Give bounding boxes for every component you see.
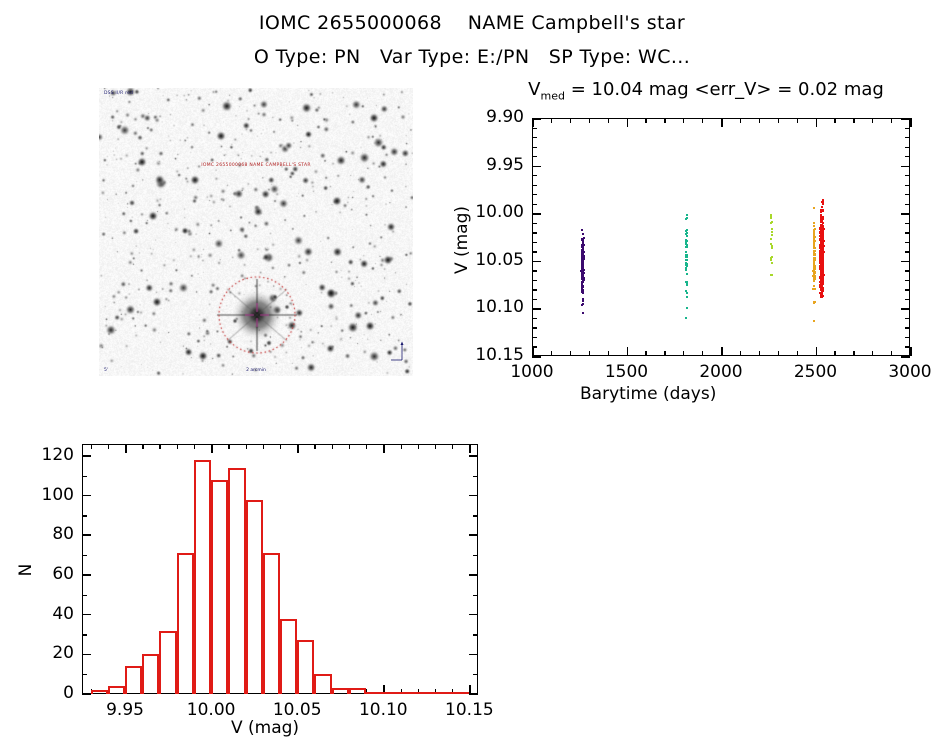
- axis-tick: [280, 444, 281, 449]
- data-point: [581, 272, 583, 274]
- axis-tick: [473, 634, 478, 635]
- object-types: O Type: PN Var Type: E:/PN SP Type: WC..…: [0, 42, 944, 72]
- data-point: [813, 260, 815, 262]
- data-point: [582, 233, 584, 235]
- data-point: [820, 224, 822, 226]
- axis-tick-label: 10.10: [343, 700, 423, 720]
- data-point: [685, 317, 687, 319]
- axis-tick-label: 60: [4, 564, 74, 584]
- data-point: [820, 294, 822, 296]
- data-point: [686, 264, 688, 266]
- axis-tick-label: 10.10: [454, 297, 524, 317]
- histogram-bar: [125, 666, 142, 694]
- axis-tick-label: 9.95: [85, 700, 165, 720]
- axis-tick: [853, 118, 854, 123]
- data-point: [582, 279, 584, 281]
- axis-tick: [570, 351, 571, 356]
- axis-tick: [905, 299, 910, 300]
- data-point: [686, 256, 688, 258]
- axis-tick: [108, 444, 109, 449]
- data-point: [822, 280, 824, 282]
- axis-tick: [532, 308, 537, 309]
- data-point: [685, 268, 687, 270]
- data-point: [814, 228, 816, 230]
- axis-tick: [905, 204, 910, 205]
- data-point: [582, 312, 584, 314]
- data-point: [813, 241, 815, 243]
- axis-tick: [740, 351, 741, 356]
- data-point: [819, 232, 821, 234]
- scatter-xaxis-label: Barytime (days): [580, 384, 716, 404]
- data-point: [686, 273, 688, 275]
- axis-tick: [82, 476, 87, 477]
- axis-tick: [469, 693, 478, 695]
- axis-tick-label: 10.15: [429, 700, 509, 720]
- axis-tick: [905, 318, 910, 319]
- axis-tick: [82, 515, 87, 516]
- data-point: [819, 284, 821, 286]
- histogram-bar: [263, 553, 280, 694]
- histogram-bar: [211, 480, 228, 694]
- dss-corner-label: 5': [104, 368, 108, 373]
- data-point: [813, 244, 815, 246]
- axis-tick: [683, 351, 684, 356]
- axis-tick: [645, 351, 646, 356]
- data-point: [813, 320, 815, 322]
- axis-tick: [905, 185, 910, 186]
- axis-tick: [608, 351, 609, 356]
- axis-tick-label: 1500: [587, 362, 667, 382]
- axis-tick: [473, 674, 478, 675]
- data-point: [820, 256, 822, 258]
- data-point: [581, 282, 583, 284]
- axis-tick: [905, 356, 910, 357]
- data-point: [686, 259, 688, 261]
- data-point: [822, 203, 824, 205]
- axis-tick: [532, 347, 534, 356]
- data-point: [822, 209, 824, 211]
- data-point: [822, 268, 824, 270]
- axis-tick: [759, 118, 760, 123]
- axis-tick: [905, 194, 910, 195]
- data-point: [582, 300, 584, 302]
- axis-tick: [91, 444, 92, 449]
- axis-tick-label: 9.90: [454, 107, 524, 127]
- data-point: [821, 260, 823, 262]
- data-point: [582, 285, 584, 287]
- data-point: [686, 232, 688, 234]
- axis-tick-label: 10.15: [454, 345, 524, 365]
- data-point: [813, 302, 815, 304]
- axis-tick: [721, 347, 723, 356]
- axis-tick: [532, 118, 541, 120]
- data-point: [581, 259, 583, 261]
- data-point: [770, 258, 772, 260]
- data-point: [771, 245, 773, 247]
- data-point: [771, 228, 773, 230]
- axis-tick: [910, 347, 912, 356]
- axis-tick: [532, 356, 537, 357]
- axis-tick: [142, 444, 143, 449]
- axis-tick: [797, 351, 798, 356]
- axis-tick: [905, 327, 910, 328]
- axis-tick: [532, 318, 537, 319]
- hist-xaxis-label: V (mag): [231, 718, 299, 738]
- axis-tick: [532, 242, 537, 243]
- data-point: [771, 234, 773, 236]
- axis-tick: [905, 289, 910, 290]
- axis-tick: [532, 128, 537, 129]
- axis-tick-label: 120: [4, 445, 74, 465]
- data-point: [685, 290, 687, 292]
- data-point: [581, 268, 583, 270]
- data-point: [814, 254, 816, 256]
- dss-survey-label: DSS II/R red: [104, 91, 133, 96]
- data-point: [771, 274, 773, 276]
- axis-tick: [797, 118, 798, 123]
- axis-tick: [532, 194, 537, 195]
- histogram-bar: [383, 692, 400, 694]
- axis-tick: [905, 147, 910, 148]
- data-point: [813, 257, 815, 259]
- axis-tick: [314, 444, 315, 449]
- data-point: [581, 239, 583, 241]
- axis-tick: [551, 118, 552, 123]
- data-point: [821, 228, 823, 230]
- axis-tick: [82, 495, 91, 497]
- histogram-bar: [142, 654, 159, 694]
- data-point: [813, 265, 815, 267]
- data-point: [822, 242, 824, 244]
- axis-tick: [627, 347, 629, 356]
- histogram-bar: [349, 688, 366, 694]
- data-point: [771, 231, 773, 233]
- axis-tick: [905, 251, 910, 252]
- data-point: [813, 285, 815, 287]
- axis-tick: [82, 634, 87, 635]
- axis-tick: [82, 574, 91, 576]
- data-point: [814, 247, 816, 249]
- data-point: [822, 217, 824, 219]
- data-point: [822, 295, 824, 297]
- axis-tick: [532, 232, 537, 233]
- vmed-values: = 10.04 mag <err_V> = 0.02 mag: [565, 79, 884, 100]
- axis-tick: [532, 175, 537, 176]
- data-point: [813, 225, 815, 227]
- axis-tick: [589, 351, 590, 356]
- axis-tick: [551, 351, 552, 356]
- axis-tick: [905, 337, 910, 338]
- data-point: [582, 303, 584, 305]
- axis-tick: [82, 595, 87, 596]
- data-point: [686, 307, 688, 309]
- axis-tick: [532, 251, 537, 252]
- histogram-bar: [332, 688, 349, 694]
- axis-tick: [435, 444, 436, 449]
- axis-tick: [82, 455, 91, 457]
- axis-tick: [901, 118, 910, 120]
- data-point: [583, 237, 585, 239]
- axis-tick: [905, 261, 910, 262]
- axis-tick: [532, 289, 537, 290]
- dss-object-label: IOMC 2655000068 NAME CAMPBELL'S STAR: [201, 163, 311, 168]
- histogram-bar: [91, 690, 108, 694]
- vmed-subscript: med: [541, 90, 565, 103]
- histogram-bar: [194, 460, 211, 694]
- data-point: [582, 252, 584, 254]
- data-point: [770, 217, 772, 219]
- axis-tick: [383, 444, 384, 449]
- histogram-bar: [435, 692, 452, 694]
- histogram-bar: [108, 686, 125, 694]
- axis-tick-label: 100: [4, 485, 74, 505]
- axis-tick: [366, 444, 367, 449]
- axis-tick: [246, 444, 247, 449]
- data-point: [770, 222, 772, 224]
- axis-tick: [905, 280, 910, 281]
- axis-tick: [664, 118, 665, 123]
- histogram-bar: [418, 692, 435, 694]
- axis-tick: [452, 444, 453, 449]
- axis-tick: [702, 351, 703, 356]
- axis-tick: [469, 495, 478, 497]
- axis-tick-label: 9.95: [454, 155, 524, 175]
- data-point: [823, 251, 825, 253]
- axis-tick: [905, 270, 910, 271]
- data-point: [822, 272, 824, 274]
- axis-tick: [683, 118, 684, 123]
- lightcurve-plot: [532, 118, 910, 356]
- axis-tick: [532, 270, 537, 271]
- data-point: [685, 281, 687, 283]
- axis-tick: [263, 444, 264, 449]
- axis-tick: [473, 476, 478, 477]
- axis-tick: [532, 280, 537, 281]
- dss-compass-icon: [389, 340, 407, 362]
- data-point: [581, 246, 583, 248]
- vmed-symbol: V: [528, 79, 540, 100]
- axis-tick: [905, 346, 910, 347]
- data-point: [686, 296, 688, 298]
- data-point: [686, 284, 688, 286]
- axis-tick: [532, 223, 537, 224]
- axis-tick: [469, 444, 470, 449]
- axis-tick: [608, 118, 609, 123]
- axis-tick: [721, 118, 723, 127]
- histogram-bar: [366, 692, 383, 694]
- data-point: [770, 238, 772, 240]
- axis-tick-label: 3000: [870, 362, 944, 382]
- dss-scale-label: 2 arcmin: [246, 368, 266, 373]
- axis-tick: [905, 232, 910, 233]
- axis-tick: [194, 444, 195, 449]
- data-point: [686, 235, 688, 237]
- axis-tick: [532, 299, 537, 300]
- axis-tick-label: 10.00: [171, 700, 251, 720]
- axis-tick: [473, 555, 478, 556]
- axis-tick: [82, 555, 87, 556]
- data-point: [813, 236, 815, 238]
- axis-tick: [159, 444, 160, 449]
- histogram-bar: [297, 640, 314, 694]
- axis-tick: [532, 337, 537, 338]
- axis-tick: [905, 128, 910, 129]
- axis-tick: [532, 261, 537, 262]
- data-point: [581, 229, 583, 231]
- axis-tick: [905, 213, 910, 214]
- axis-tick: [570, 118, 571, 123]
- axis-tick: [872, 351, 873, 356]
- axis-tick-label: 1000: [492, 362, 572, 382]
- axis-tick: [211, 444, 212, 449]
- axis-tick: [664, 351, 665, 356]
- axis-tick-label: 10.05: [257, 700, 337, 720]
- axis-tick: [905, 156, 910, 157]
- data-point: [685, 269, 687, 271]
- axis-tick: [532, 204, 537, 205]
- data-point: [813, 230, 815, 232]
- axis-tick-label: 80: [4, 524, 74, 544]
- axis-tick: [177, 444, 178, 449]
- axis-tick-label: 2500: [776, 362, 856, 382]
- axis-tick: [778, 118, 779, 123]
- axis-tick: [589, 118, 590, 123]
- axis-tick: [469, 455, 478, 457]
- histogram-bar: [401, 692, 418, 694]
- axis-tick: [891, 351, 892, 356]
- histogram-bar: [177, 553, 194, 694]
- axis-tick: [473, 515, 478, 516]
- axis-tick: [759, 351, 760, 356]
- finder-chart-panel: DSS II/R red IOMC 2655000068 NAME CAMPBE…: [99, 88, 413, 376]
- data-point: [686, 244, 688, 246]
- data-point: [820, 211, 822, 213]
- axis-tick: [332, 444, 333, 449]
- axis-tick-label: 2000: [681, 362, 761, 382]
- hist-yaxis-label: N: [16, 550, 36, 590]
- data-point: [581, 288, 583, 290]
- data-point: [813, 207, 815, 209]
- axis-tick: [740, 118, 741, 123]
- axis-tick: [82, 614, 91, 616]
- axis-tick: [297, 444, 298, 449]
- data-point: [582, 262, 584, 264]
- axis-tick: [645, 118, 646, 123]
- axis-tick: [125, 444, 127, 453]
- axis-tick: [532, 213, 537, 214]
- axis-tick: [905, 175, 910, 176]
- axis-tick: [469, 654, 478, 656]
- axis-tick: [905, 166, 910, 167]
- data-point: [822, 200, 824, 202]
- axis-tick-label: 40: [4, 604, 74, 624]
- data-point: [820, 245, 822, 247]
- data-point: [822, 231, 824, 233]
- data-point: [822, 282, 824, 284]
- axis-tick-label: 20: [4, 643, 74, 663]
- axis-tick: [469, 534, 478, 536]
- axis-tick: [418, 444, 419, 449]
- axis-tick: [82, 654, 91, 656]
- axis-tick: [349, 444, 350, 449]
- data-point: [822, 288, 824, 290]
- axis-tick: [532, 327, 537, 328]
- histogram-bar: [159, 631, 176, 694]
- object-title: IOMC 2655000068 NAME Campbell's star: [0, 8, 944, 38]
- axis-tick: [532, 346, 537, 347]
- axis-tick: [853, 351, 854, 356]
- axis-tick: [872, 118, 873, 123]
- data-point: [686, 292, 688, 294]
- scatter-yaxis-label: V (mag): [452, 195, 472, 285]
- axis-tick: [905, 223, 910, 224]
- data-point: [821, 253, 823, 255]
- data-point: [813, 278, 815, 280]
- data-point: [820, 236, 822, 238]
- axis-tick: [702, 118, 703, 123]
- axis-tick: [532, 147, 537, 148]
- axis-tick: [627, 118, 629, 127]
- axis-tick: [834, 351, 835, 356]
- histogram-bar: [280, 619, 297, 694]
- data-point: [813, 271, 815, 273]
- histogram-bar: [228, 468, 245, 694]
- data-point: [581, 254, 583, 256]
- axis-tick: [532, 156, 537, 157]
- axis-tick: [905, 137, 910, 138]
- data-point: [771, 262, 773, 264]
- axis-tick: [834, 118, 835, 123]
- axis-tick: [532, 166, 537, 167]
- data-point: [822, 276, 824, 278]
- axis-tick: [891, 118, 892, 123]
- axis-tick: [228, 444, 229, 449]
- axis-tick: [910, 118, 912, 127]
- dss-sky-image: [99, 88, 413, 376]
- axis-tick-label: 0: [4, 683, 74, 703]
- data-point: [812, 288, 814, 290]
- histogram-bar: [452, 692, 469, 694]
- axis-tick: [82, 674, 87, 675]
- data-point: [685, 218, 687, 220]
- axis-tick: [905, 308, 910, 309]
- axis-tick: [532, 185, 537, 186]
- histogram-bar: [314, 674, 331, 694]
- axis-tick: [82, 534, 91, 536]
- data-point: [581, 266, 583, 268]
- data-point: [813, 267, 815, 269]
- axis-tick: [532, 137, 537, 138]
- data-point: [582, 292, 584, 294]
- axis-tick: [469, 574, 478, 576]
- axis-tick: [905, 242, 910, 243]
- axis-tick: [778, 351, 779, 356]
- figure-page: IOMC 2655000068 NAME Campbell's star O T…: [0, 0, 944, 747]
- axis-tick: [816, 347, 818, 356]
- axis-tick: [473, 595, 478, 596]
- axis-tick: [469, 614, 478, 616]
- axis-tick: [401, 444, 402, 449]
- histogram-bar: [246, 500, 263, 694]
- axis-tick: [816, 118, 818, 127]
- data-point: [685, 251, 687, 253]
- data-point: [813, 276, 815, 278]
- photometry-stats: Vmed = 10.04 mag <err_V> = 0.02 mag: [468, 79, 944, 103]
